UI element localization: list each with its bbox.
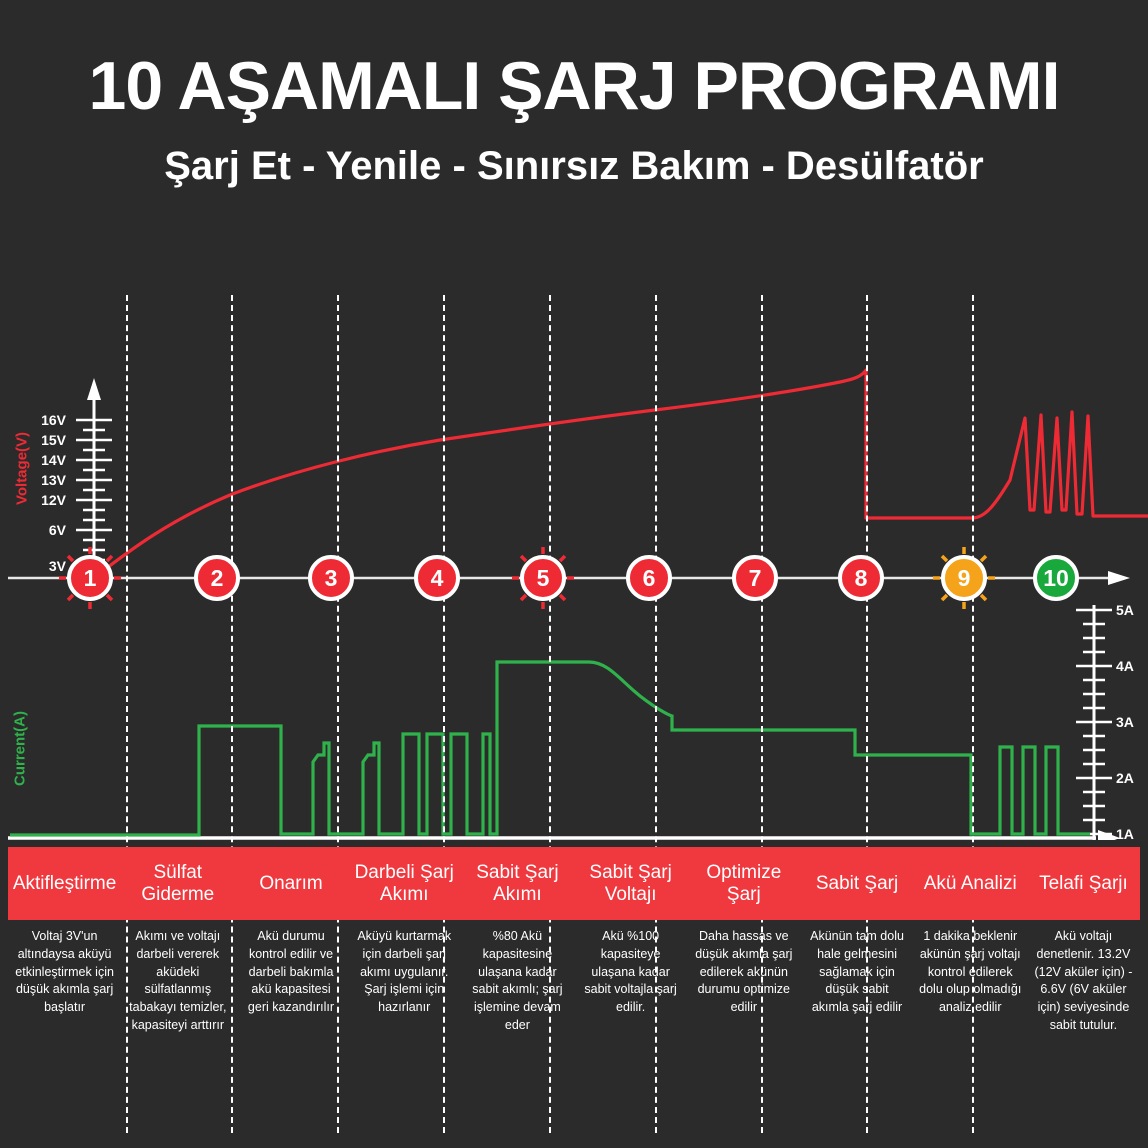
stage-badge-6[interactable]: 6 xyxy=(626,555,672,601)
stage-desc-9: 1 dakika beklenir akünün şarj voltajı ko… xyxy=(914,924,1027,1124)
stage-badge-10[interactable]: 10 xyxy=(1033,555,1079,601)
voltage-axis-title: Voltage(V) xyxy=(14,419,31,519)
current-tick-3a: 3A xyxy=(1116,714,1148,730)
current-tick-4a: 4A xyxy=(1116,658,1148,674)
current-tick-1a: 1A xyxy=(1116,826,1148,842)
stage-desc-7: Daha hassas ve düşük akımla şarj edilere… xyxy=(687,924,800,1124)
stage-badge-7[interactable]: 7 xyxy=(732,555,778,601)
page-subtitle: Şarj Et - Yenile - Sınırsız Bakım - Desü… xyxy=(0,120,1148,186)
stage-label-8[interactable]: Sabit Şarj xyxy=(800,847,913,920)
stage-label-7[interactable]: Optimize Şarj xyxy=(687,847,800,920)
stage-desc-10: Akü voltajı denetlenir. 13.2V (12V aküle… xyxy=(1027,924,1140,1124)
stage-label-4[interactable]: Darbeli Şarj Akımı xyxy=(348,847,461,920)
chart-plot-area: 16V 15V 14V 13V 12V 6V 3V 5A 4A 3A 2A 1A xyxy=(0,210,1148,840)
voltage-tick-15v: 15V xyxy=(26,432,66,448)
current-axis-title: Current(A) xyxy=(12,699,29,799)
voltage-tick-6v: 6V xyxy=(26,522,66,538)
voltage-tick-14v: 14V xyxy=(26,452,66,468)
stage-label-bar: Aktifleştirme Sülfat Giderme Onarım Darb… xyxy=(8,847,1140,920)
stage-desc-4: Aküyü kurtarmak için darbeli şarj akımı … xyxy=(348,924,461,1124)
infographic-root: 10 AŞAMALI ŞARJ PROGRAMI Şarj Et - Yenil… xyxy=(0,0,1148,1148)
voltage-axis-arrow xyxy=(87,378,101,400)
stage-desc-1: Voltaj 3V'un altındaysa aküyü etkinleşti… xyxy=(8,924,121,1124)
stage-badge-4[interactable]: 4 xyxy=(414,555,460,601)
stage-label-3[interactable]: Onarım xyxy=(234,847,347,920)
stage-desc-2: Akımı ve voltajı darbeli vererek aküdeki… xyxy=(121,924,234,1124)
voltage-tick-13v: 13V xyxy=(26,472,66,488)
gauge-ticks-icon-9 xyxy=(931,545,997,611)
stage-description-row: Voltaj 3V'un altındaysa aküyü etkinleşti… xyxy=(8,924,1140,1124)
stage-label-9[interactable]: Akü Analizi xyxy=(914,847,1027,920)
page-title: 10 AŞAMALI ŞARJ PROGRAMI xyxy=(0,0,1148,120)
stage-label-6[interactable]: Sabit Şarj Voltajı xyxy=(574,847,687,920)
current-tick-5a: 5A xyxy=(1116,602,1148,618)
voltage-tick-12v: 12V xyxy=(26,492,66,508)
current-tick-2a: 2A xyxy=(1116,770,1148,786)
stage-label-1[interactable]: Aktifleştirme xyxy=(8,847,121,920)
stage-badge-8[interactable]: 8 xyxy=(838,555,884,601)
chart-svg xyxy=(0,210,1148,840)
stage-desc-3: Akü durumu kontrol edilir ve darbeli bak… xyxy=(234,924,347,1124)
stage-desc-6: Akü %100 kapasiteye ulaşana kadar sabit … xyxy=(574,924,687,1124)
stage-badge-3[interactable]: 3 xyxy=(308,555,354,601)
gauge-ticks-icon-5 xyxy=(510,545,576,611)
header: 10 AŞAMALI ŞARJ PROGRAMI Şarj Et - Yenil… xyxy=(0,0,1148,210)
stage-label-5[interactable]: Sabit Şarj Akımı xyxy=(461,847,574,920)
stage-desc-5: %80 Akü kapasitesine ulaşana kadar sabit… xyxy=(461,924,574,1124)
voltage-tick-16v: 16V xyxy=(26,412,66,428)
stage-desc-8: Akünün tam dolu hale gelmesini sağlamak … xyxy=(800,924,913,1124)
voltage-baseline-arrow xyxy=(1108,571,1130,585)
gauge-ticks-icon-1 xyxy=(57,545,123,611)
stage-label-10[interactable]: Telafi Şarjı xyxy=(1027,847,1140,920)
stage-badge-2[interactable]: 2 xyxy=(194,555,240,601)
stage-label-2[interactable]: Sülfat Giderme xyxy=(121,847,234,920)
